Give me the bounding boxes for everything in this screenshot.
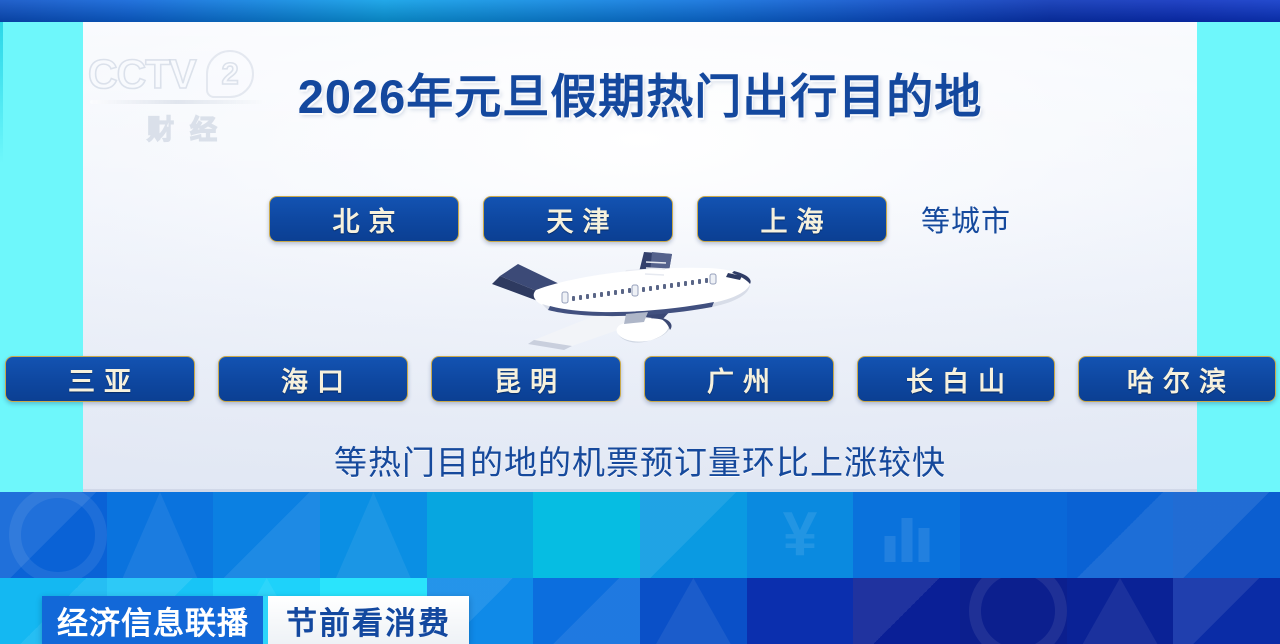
right-cyan-bar bbox=[1197, 22, 1280, 492]
destination-chip-changbaishan[interactable]: 长白山 bbox=[857, 356, 1055, 402]
left-cyan-bar bbox=[0, 22, 83, 492]
band-cell bbox=[747, 578, 854, 644]
page-title: 2026年元旦假期热门出行目的地 bbox=[83, 58, 1197, 127]
band-cell bbox=[213, 492, 320, 578]
yen-symbol-motif: ¥ bbox=[783, 504, 817, 566]
destination-row-secondary: 三亚 海口 昆明 广州 长白山 哈尔滨 bbox=[83, 356, 1197, 402]
band-cell: ¥ bbox=[747, 492, 854, 578]
destination-chip-shanghai[interactable]: 上海 bbox=[697, 196, 887, 242]
row-suffix-label: 等城市 bbox=[921, 198, 1011, 240]
band-cell bbox=[853, 492, 960, 578]
band-cell bbox=[533, 578, 640, 644]
circle-motif bbox=[9, 492, 107, 578]
band-cell bbox=[533, 492, 640, 578]
destination-chip-harbin[interactable]: 哈尔滨 bbox=[1078, 356, 1276, 402]
band-row-upper: ¥ bbox=[0, 492, 1280, 578]
band-cell bbox=[960, 578, 1067, 644]
band-cell bbox=[320, 492, 427, 578]
lower-third-banner: 经济信息联播 节前看消费 bbox=[42, 596, 469, 644]
summary-caption: 等热门目的地的机票预订量环比上涨较快 bbox=[83, 436, 1197, 484]
program-name-label: 经济信息联播 bbox=[42, 596, 263, 644]
band-cell bbox=[853, 578, 960, 644]
band-cell bbox=[427, 492, 534, 578]
top-strip-shading bbox=[0, 0, 1280, 22]
destination-chip-tianjin[interactable]: 天津 bbox=[483, 196, 673, 242]
band-cell bbox=[1173, 492, 1280, 578]
band-cell bbox=[640, 492, 747, 578]
destination-chip-beijing[interactable]: 北京 bbox=[269, 196, 459, 242]
band-cell bbox=[107, 492, 214, 578]
destination-chip-kunming[interactable]: 昆明 bbox=[431, 356, 621, 402]
band-cell bbox=[0, 492, 107, 578]
destination-chip-sanya[interactable]: 三亚 bbox=[5, 356, 195, 402]
destination-chip-guangzhou[interactable]: 广州 bbox=[644, 356, 834, 402]
bar-chart-motif bbox=[884, 508, 929, 562]
band-cell bbox=[1067, 578, 1174, 644]
top-blue-strip bbox=[0, 0, 1280, 22]
circle-motif bbox=[969, 578, 1067, 644]
topic-label: 节前看消费 bbox=[268, 596, 469, 644]
band-cell bbox=[1067, 492, 1174, 578]
band-cell bbox=[640, 578, 747, 644]
destination-row-primary: 北京 天津 上海 等城市 bbox=[83, 196, 1197, 242]
band-cell bbox=[960, 492, 1067, 578]
band-cell bbox=[1173, 578, 1280, 644]
destination-chip-haikou[interactable]: 海口 bbox=[218, 356, 408, 402]
broadcast-graphic-screen: ¥ bbox=[0, 0, 1280, 644]
